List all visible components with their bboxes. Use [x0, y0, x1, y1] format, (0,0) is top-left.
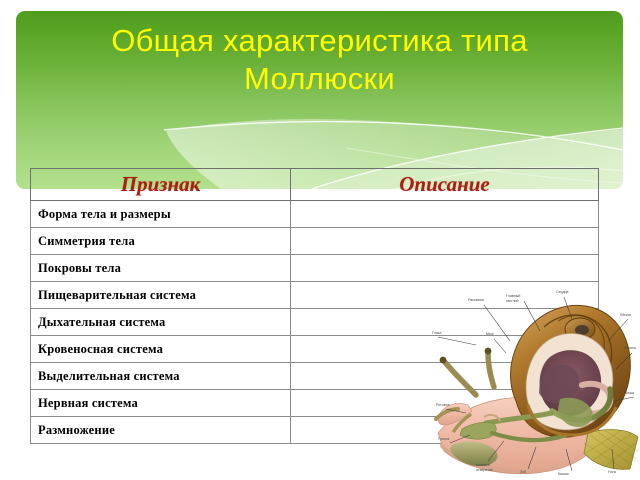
snail-eye-right — [485, 348, 492, 355]
feature-cell: Выделительная система — [31, 363, 291, 390]
feature-cell: Нервная система — [31, 390, 291, 417]
table-header-row: Признак Описание — [31, 169, 599, 201]
svg-text:Печень: Печень — [624, 346, 636, 350]
table-row: Симметрия тела — [31, 228, 599, 255]
snail-anatomy-svg: Раковина Главный ганглий Сердце Глаза Мо… — [432, 283, 640, 480]
svg-text:Мозг: Мозг — [486, 332, 495, 336]
svg-text:Кишка: Кишка — [558, 472, 569, 476]
feature-cell: Симметрия тела — [31, 228, 291, 255]
table-row: Покровы тела — [31, 255, 599, 282]
svg-text:Глаза: Глаза — [432, 331, 441, 335]
snail-tentacle-upper-left — [444, 361, 476, 395]
description-cell[interactable] — [291, 255, 599, 282]
slide-canvas: Общая характеристика типа Моллюски Призн… — [0, 0, 640, 480]
svg-text:Главный: Главный — [506, 294, 520, 298]
svg-text:Зоб: Зоб — [520, 470, 526, 474]
column-header-description: Описание — [291, 169, 599, 201]
feature-cell: Форма тела и размеры — [31, 201, 291, 228]
feature-cell: Покровы тела — [31, 255, 291, 282]
feature-cell: Пищеварительная система — [31, 282, 291, 309]
feature-cell: Кровеносная система — [31, 336, 291, 363]
page-title: Общая характеристика типа Моллюски — [16, 22, 623, 98]
description-cell[interactable] — [291, 201, 599, 228]
table-row: Форма тела и размеры — [31, 201, 599, 228]
svg-text:Лёгкое: Лёгкое — [620, 313, 631, 317]
feature-cell: Размножение — [31, 417, 291, 444]
svg-text:Почка: Почка — [624, 391, 634, 395]
snail-tentacle-upper-right — [488, 353, 494, 387]
description-cell[interactable] — [291, 228, 599, 255]
svg-text:ганглий: ганглий — [506, 299, 519, 303]
svg-text:Сердце: Сердце — [556, 290, 569, 294]
column-header-feature: Признак — [31, 169, 291, 201]
snail-anatomy-image: Раковина Главный ганглий Сердце Глаза Мо… — [432, 283, 640, 480]
svg-text:половое: половое — [476, 463, 490, 467]
svg-text:Нога: Нога — [608, 470, 616, 474]
svg-text:Ротовое: Ротовое — [436, 403, 450, 407]
feature-cell: Дыхательная система — [31, 309, 291, 336]
svg-text:Раковина: Раковина — [468, 298, 484, 302]
svg-text:Глотка: Глотка — [438, 437, 449, 441]
svg-text:отверстие: отверстие — [476, 468, 493, 472]
snail-eye-left — [440, 357, 447, 364]
